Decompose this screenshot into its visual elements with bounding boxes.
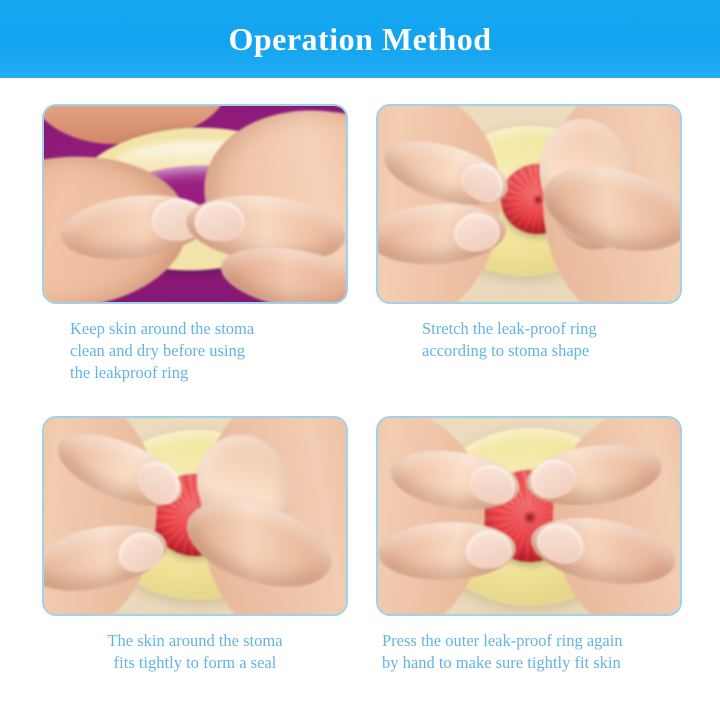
step-photo-frame-3 xyxy=(42,416,348,616)
step-photo-frame-2 xyxy=(376,104,682,304)
fingernail xyxy=(195,201,245,241)
step-image-4 xyxy=(378,418,680,614)
step-caption-1: Keep skin around the stoma clean and dry… xyxy=(42,318,348,384)
page-title: Operation Method xyxy=(228,23,491,55)
steps-grid: Keep skin around the stoma clean and dry… xyxy=(0,78,720,720)
header-banner: Operation Method xyxy=(0,0,720,78)
step-image-3 xyxy=(44,418,346,614)
step-caption-4: Press the outer leak-proof ring again by… xyxy=(376,630,682,674)
step-photo-frame-1 xyxy=(42,104,348,304)
step-card-3: The skin around the stoma fits tightly t… xyxy=(42,416,348,674)
fingernail xyxy=(465,530,512,570)
step-card-4: Press the outer leak-proof ring again by… xyxy=(376,416,682,674)
fingernail xyxy=(452,211,502,254)
step-image-1 xyxy=(44,106,346,302)
step-card-2: Stretch the leak-proof ring according to… xyxy=(376,104,682,362)
stoma-opening xyxy=(522,511,537,524)
step-image-2 xyxy=(378,106,680,302)
step-card-1: Keep skin around the stoma clean and dry… xyxy=(42,104,348,384)
step-photo-frame-4 xyxy=(376,416,682,616)
step-caption-2: Stretch the leak-proof ring according to… xyxy=(376,318,682,362)
step-caption-3: The skin around the stoma fits tightly t… xyxy=(42,630,348,674)
